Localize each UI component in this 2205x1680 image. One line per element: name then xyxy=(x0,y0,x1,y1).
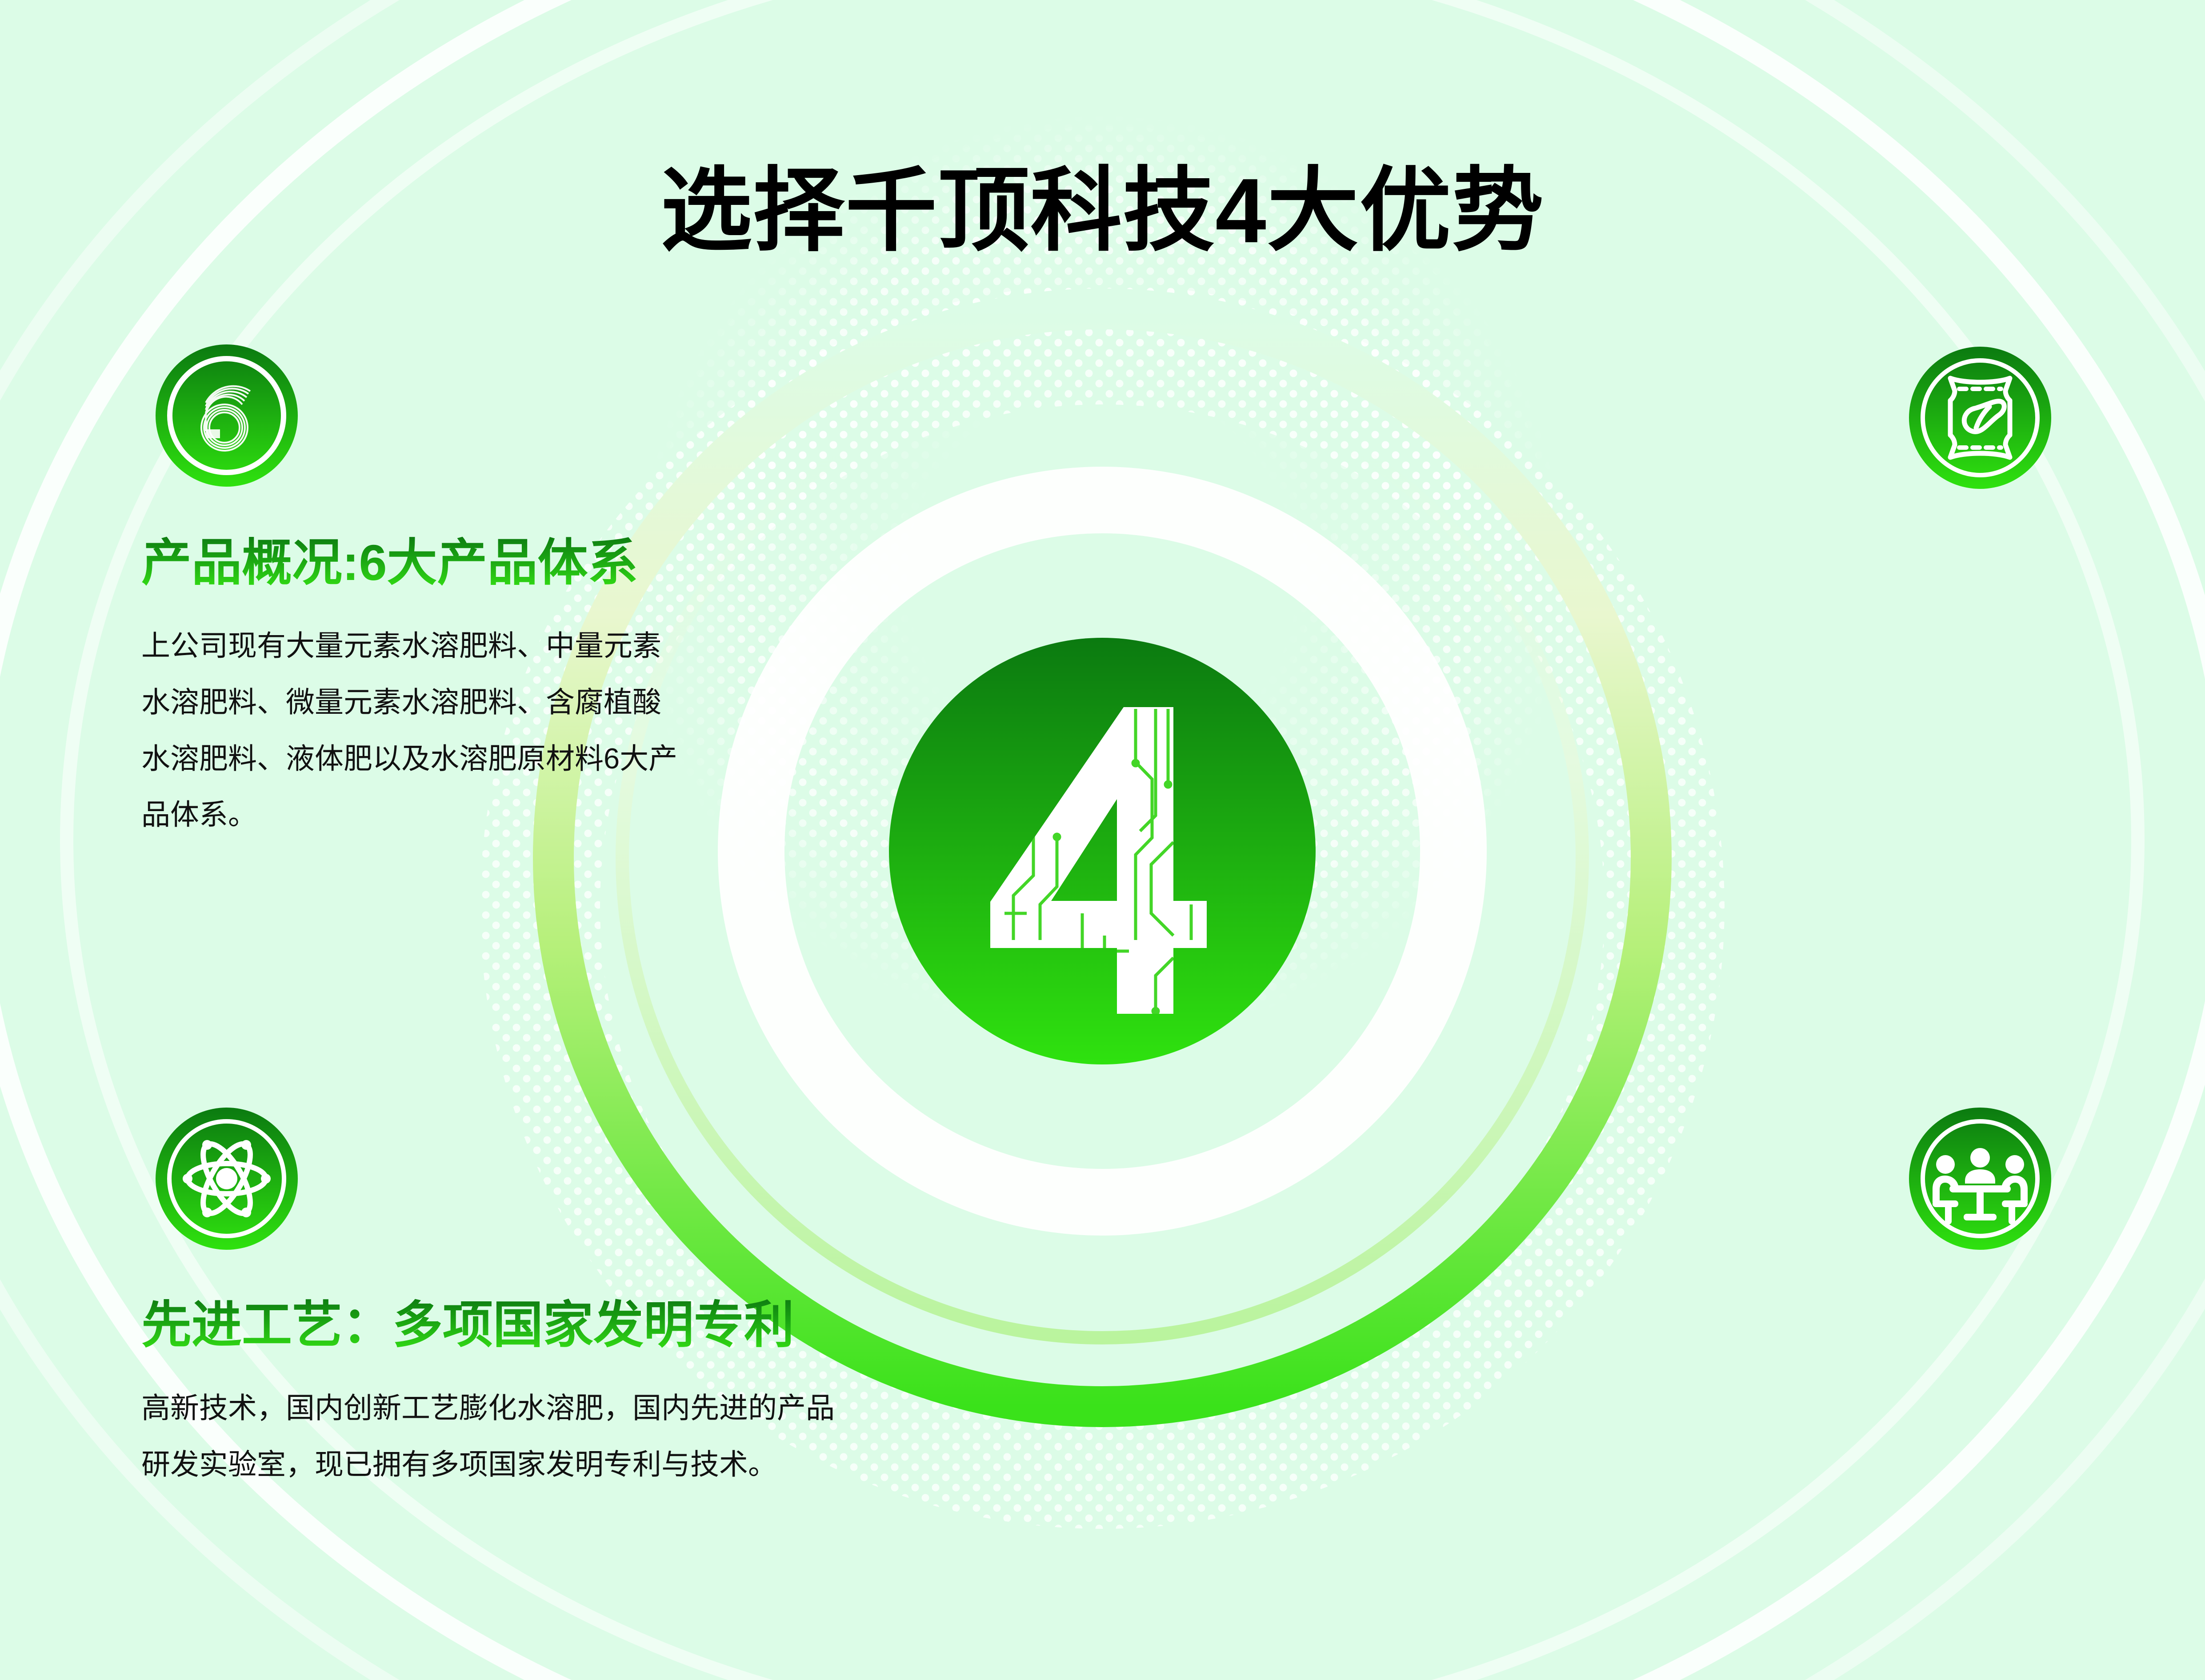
advantage-heading: 先进工艺：多项国家发明专利 xyxy=(141,1297,794,1353)
advantage-body: 高新技术，国内创新工艺膨化水溶肥，国内先进的产品研发实验室，现已拥有多项国家发明… xyxy=(141,1380,857,1493)
atom-icon xyxy=(153,1105,300,1252)
advantage-body: 上公司现有大量元素水溶肥料、中量元素水溶肥料、微量元素水溶肥料、含腐植酸水溶肥料… xyxy=(141,618,686,843)
number-six-rings-icon xyxy=(153,342,300,489)
center-disc xyxy=(889,638,1316,1064)
page-title: 选择千顶科技4大优势 xyxy=(0,163,2205,259)
meeting-table-people-icon xyxy=(1907,1105,2053,1252)
infographic-canvas: 选择千顶科技4大优势 xyxy=(0,0,2205,1680)
advantage-heading: 产品概况:6大产品体系 xyxy=(141,535,638,591)
fertilizer-bag-icon xyxy=(1907,344,2053,491)
center-number-badge xyxy=(880,629,1325,1073)
